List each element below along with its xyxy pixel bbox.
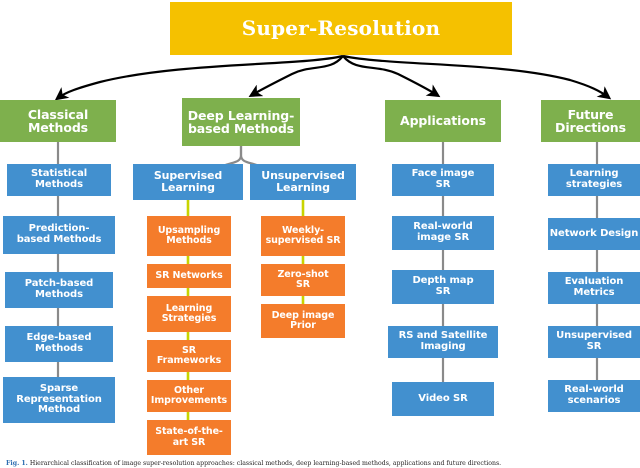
branch-classical-methods[interactable]: Classical Methods bbox=[0, 100, 116, 142]
leaf-rs-and-satellite-imaging[interactable]: RS and Satellite Imaging bbox=[388, 326, 498, 358]
figure-caption-text: Hierarchical classification of image sup… bbox=[30, 460, 501, 467]
leaf-weekly-supervised-sr[interactable]: Weekly- supervised SR bbox=[261, 216, 345, 256]
leaf-other-improvements[interactable]: Other Improvements bbox=[147, 380, 231, 412]
leaf-patch-based-methods[interactable]: Patch-based Methods bbox=[5, 272, 113, 308]
figure-canvas: Super-Resolution Classical Methods Deep … bbox=[0, 0, 640, 468]
leaf-zero-shot-sr[interactable]: Zero-shot SR bbox=[261, 264, 345, 296]
leaf-sr-networks[interactable]: SR Networks bbox=[147, 264, 231, 288]
figure-caption-label: Fig. 1. bbox=[6, 460, 28, 467]
leaf-learning-strategies-future[interactable]: Learning strategies bbox=[548, 164, 640, 196]
leaf-upsampling-methods[interactable]: Upsampling Methods bbox=[147, 216, 231, 256]
leaf-sr-frameworks[interactable]: SR Frameworks bbox=[147, 340, 231, 372]
leaf-depth-map-sr[interactable]: Depth map SR bbox=[392, 270, 494, 304]
leaf-unsupervised-sr[interactable]: Unsupervised SR bbox=[548, 326, 640, 358]
branch-future-directions[interactable]: Future Directions bbox=[541, 100, 640, 142]
leaf-real-world-scenarios[interactable]: Real-world scenarios bbox=[548, 380, 640, 412]
leaf-learning-strategies[interactable]: Learning Strategies bbox=[147, 296, 231, 332]
leaf-face-image-sr[interactable]: Face image SR bbox=[392, 164, 494, 196]
leaf-sparse-representation-method[interactable]: Sparse Representation Method bbox=[3, 377, 115, 423]
leaf-statistical-methods[interactable]: Statistical Methods bbox=[7, 164, 111, 196]
figure-caption: Fig. 1. Hierarchical classification of i… bbox=[6, 460, 640, 467]
root-title-box: Super-Resolution bbox=[170, 2, 512, 55]
leaf-deep-image-prior[interactable]: Deep image Prior bbox=[261, 304, 345, 338]
branch-applications[interactable]: Applications bbox=[385, 100, 501, 142]
leaf-network-design[interactable]: Network Design bbox=[548, 218, 640, 250]
leaf-edge-based-methods[interactable]: Edge-based Methods bbox=[5, 326, 113, 362]
leaf-evaluation-metrics[interactable]: Evaluation Metrics bbox=[548, 272, 640, 304]
root-arrows bbox=[58, 56, 608, 98]
leaf-real-world-image-sr[interactable]: Real-world image SR bbox=[392, 216, 494, 250]
leaf-prediction-based-methods[interactable]: Prediction- based Methods bbox=[3, 216, 115, 254]
subgroup-supervised-learning[interactable]: Supervised Learning bbox=[133, 164, 243, 200]
branch-deep-learning-based-methods[interactable]: Deep Learning- based Methods bbox=[182, 98, 300, 146]
leaf-video-sr[interactable]: Video SR bbox=[392, 382, 494, 416]
leaf-state-of-the-art-sr[interactable]: State-of-the- art SR bbox=[147, 420, 231, 455]
subgroup-unsupervised-learning[interactable]: Unsupervised Learning bbox=[250, 164, 356, 200]
